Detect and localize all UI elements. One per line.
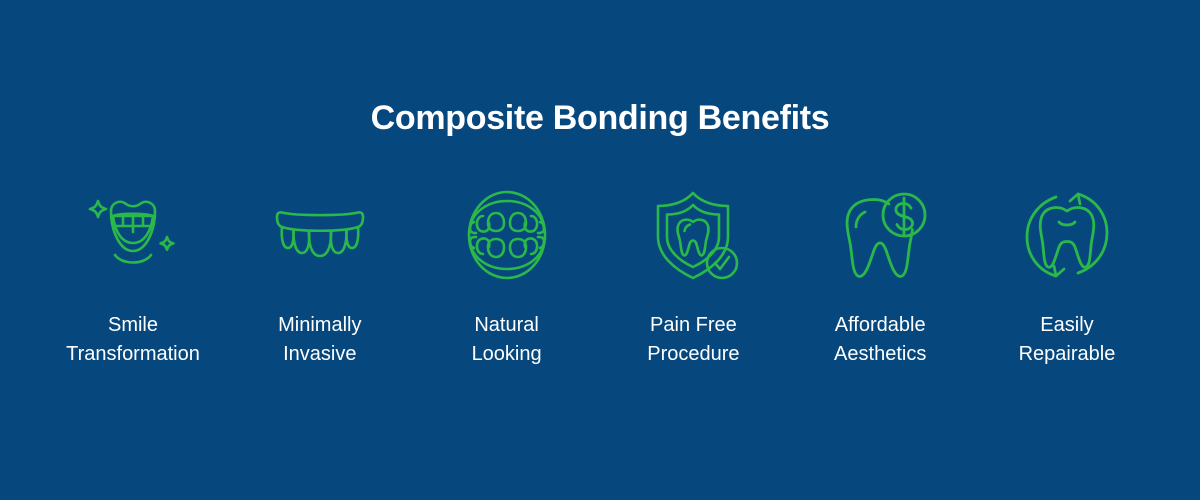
benefit-item-pain-free-procedure: Pain Free Procedure — [600, 185, 786, 368]
tooth-dollar-coin-icon — [825, 185, 935, 285]
benefit-item-easily-repairable: Easily Repairable — [974, 185, 1160, 368]
full-teeth-set-icon — [452, 185, 562, 285]
upper-teeth-arch-icon — [265, 185, 375, 285]
benefit-item-minimally-invasive: Minimally Invasive — [227, 185, 413, 368]
smiling-mouth-sparkle-icon — [78, 185, 188, 285]
benefit-item-affordable-aesthetics: Affordable Aesthetics — [787, 185, 973, 368]
composite-bonding-benefits-infographic: Composite Bonding Benefits — [0, 0, 1200, 500]
benefits-row: Smile Transformation Minimally Invasive — [40, 185, 1160, 368]
benefit-label: Minimally Invasive — [278, 311, 361, 368]
benefit-label: Affordable Aesthetics — [834, 311, 926, 368]
benefit-item-natural-looking: Natural Looking — [414, 185, 600, 368]
benefit-label: Pain Free Procedure — [647, 311, 739, 368]
benefit-item-smile-transformation: Smile Transformation — [40, 185, 226, 368]
page-title: Composite Bonding Benefits — [371, 100, 830, 137]
tooth-refresh-arrows-icon — [1012, 185, 1122, 285]
shield-tooth-check-icon — [638, 185, 748, 285]
benefit-label: Smile Transformation — [66, 311, 200, 368]
benefit-label: Easily Repairable — [1019, 311, 1116, 368]
benefit-label: Natural Looking — [472, 311, 542, 368]
